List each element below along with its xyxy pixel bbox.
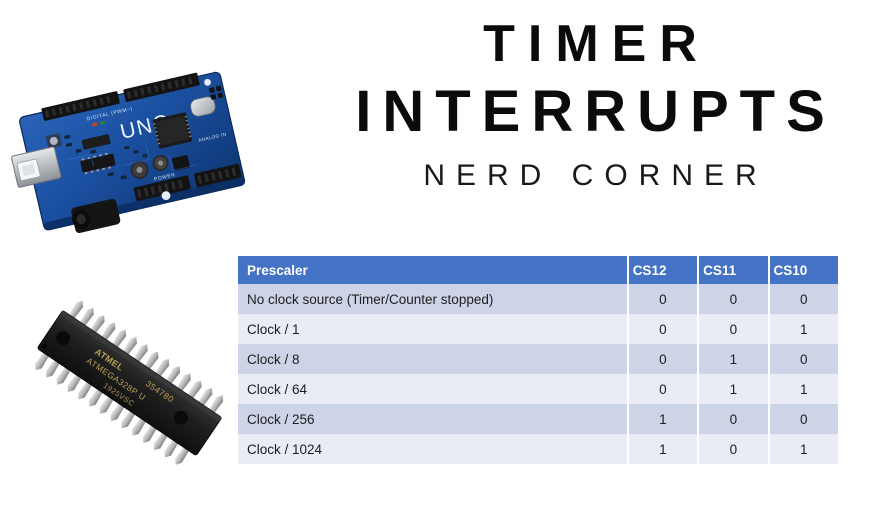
cell-cs12: 0 — [629, 374, 699, 404]
table-row: Clock / 64 0 1 1 — [238, 374, 838, 404]
column-header-cs12: CS12 — [629, 256, 699, 284]
table-row: No clock source (Timer/Counter stopped) … — [238, 284, 838, 314]
page-title-line-2: INTERRUPTS — [300, 83, 880, 141]
page-title-line-1: TIMER — [300, 18, 880, 70]
cell-prescaler: Clock / 64 — [238, 374, 629, 404]
cell-cs11: 1 — [699, 344, 769, 374]
cell-prescaler: Clock / 1024 — [238, 434, 629, 464]
cell-prescaler: Clock / 256 — [238, 404, 629, 434]
cell-cs10: 0 — [770, 344, 838, 374]
cell-cs12: 0 — [629, 344, 699, 374]
table-body: No clock source (Timer/Counter stopped) … — [238, 284, 838, 464]
cell-cs12: 1 — [629, 404, 699, 434]
cell-prescaler: Clock / 8 — [238, 344, 629, 374]
cell-cs12: 0 — [629, 314, 699, 344]
table-header-row: Prescaler CS12 CS11 CS10 — [238, 256, 838, 284]
timer1-prescaler-table: Prescaler CS12 CS11 CS10 No clock source… — [238, 256, 838, 464]
cell-cs10: 1 — [770, 314, 838, 344]
table-row: Clock / 8 0 1 0 — [238, 344, 838, 374]
page-subtitle: NERD CORNER — [300, 159, 880, 193]
table-row: Clock / 256 1 0 0 — [238, 404, 838, 434]
cell-cs10: 1 — [770, 374, 838, 404]
cell-prescaler: No clock source (Timer/Counter stopped) — [238, 284, 629, 314]
table-row: Clock / 1 0 0 1 — [238, 314, 838, 344]
title-block: TIMER INTERRUPTS NERD CORNER — [300, 18, 880, 193]
cell-cs11: 0 — [699, 434, 769, 464]
column-header-prescaler: Prescaler — [238, 256, 629, 284]
cell-cs12: 1 — [629, 434, 699, 464]
cell-cs11: 0 — [699, 284, 769, 314]
column-header-cs10: CS10 — [770, 256, 838, 284]
cell-cs11: 1 — [699, 374, 769, 404]
cell-cs10: 1 — [770, 434, 838, 464]
arduino-uno-board-image: DIGITAL (PWM~) POWER ANALOG IN UNO — [8, 45, 258, 260]
cell-cs11: 0 — [699, 314, 769, 344]
atmega-chip-svg: ATMEL 354780 ATMEGA328P U 1925VSC — [18, 288, 243, 503]
cell-cs10: 0 — [770, 284, 838, 314]
cell-cs12: 0 — [629, 284, 699, 314]
cell-cs10: 0 — [770, 404, 838, 434]
table-row: Clock / 1024 1 0 1 — [238, 434, 838, 464]
table-header: Prescaler CS12 CS11 CS10 — [238, 256, 838, 284]
cell-prescaler: Clock / 1 — [238, 314, 629, 344]
arduino-board-svg: DIGITAL (PWM~) POWER ANALOG IN UNO — [8, 45, 258, 260]
atmega328p-chip-image: ATMEL 354780 ATMEGA328P U 1925VSC — [18, 288, 243, 503]
column-header-cs11: CS11 — [699, 256, 769, 284]
cell-cs11: 0 — [699, 404, 769, 434]
